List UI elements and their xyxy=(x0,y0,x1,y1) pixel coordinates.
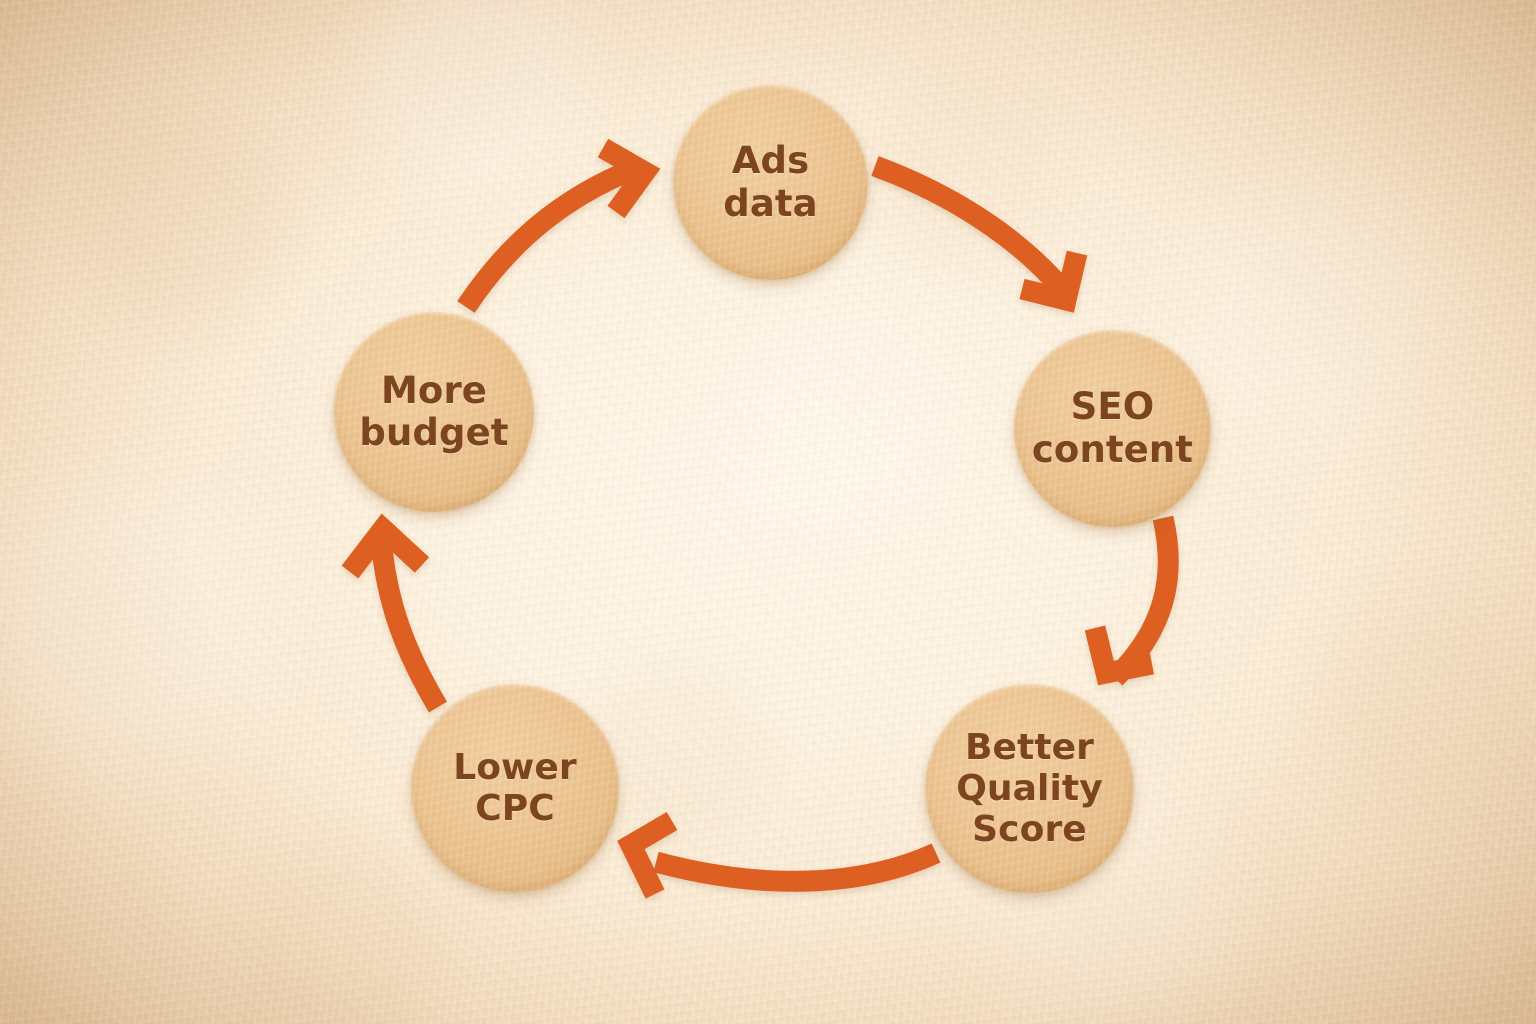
cycle-node-more-budget[interactable]: More budget xyxy=(334,312,534,512)
diagram-canvas: Ads data SEO content Better Quality Scor… xyxy=(0,0,1536,1024)
cycle-node-lower-cpc[interactable]: Lower CPC xyxy=(411,684,619,892)
arrow-budget-to-ads xyxy=(466,148,645,307)
arrow-quality-to-cpc xyxy=(631,821,936,894)
cycle-node-seo-content[interactable]: SEO content xyxy=(1014,330,1211,527)
cycle-node-label-more-budget: More budget xyxy=(355,370,512,454)
cycle-node-better-quality-score[interactable]: Better Quality Score xyxy=(925,684,1134,893)
arrow-cpc-to-budget xyxy=(350,529,438,707)
cycle-node-label-lower-cpc: Lower CPC xyxy=(449,747,581,829)
cycle-node-ads-data[interactable]: Ads data xyxy=(673,85,868,280)
cycle-node-label-seo-content: SEO content xyxy=(1028,386,1197,470)
arrow-seo-to-quality xyxy=(1095,518,1168,678)
cycle-node-label-better-quality-score: Better Quality Score xyxy=(952,727,1107,850)
arrow-ads-to-seo xyxy=(875,166,1077,300)
cycle-node-label-ads-data: Ads data xyxy=(719,140,822,224)
